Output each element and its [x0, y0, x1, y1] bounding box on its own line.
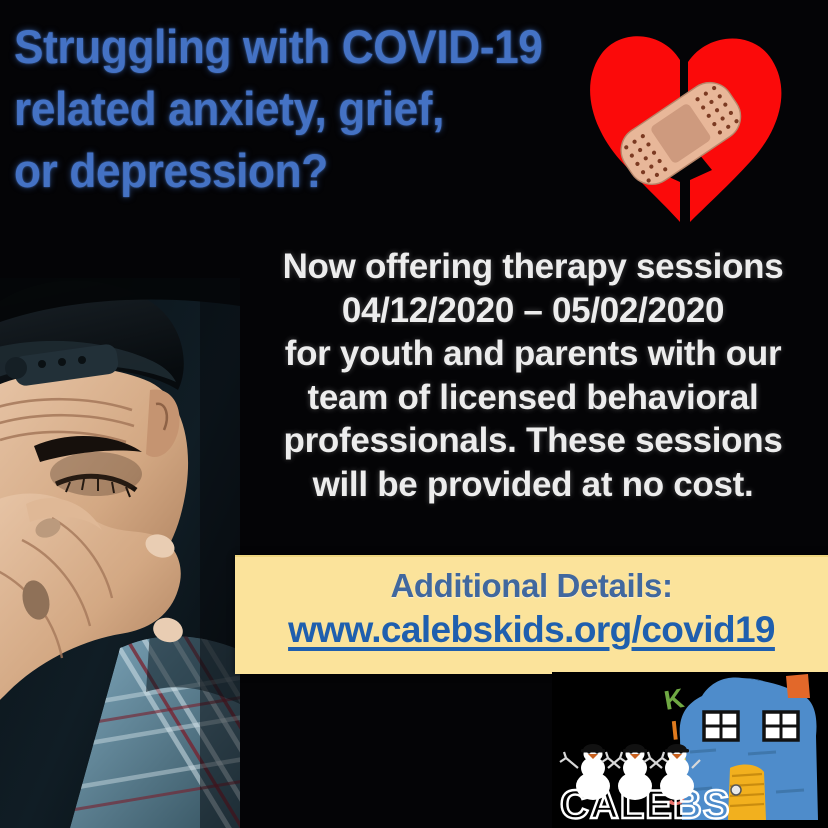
additional-details-label: Additional Details:: [235, 567, 828, 605]
body-line-6: will be provided at no cost.: [238, 463, 828, 507]
page-title: Struggling with COVID-19 related anxiety…: [14, 16, 614, 202]
headline-line-1: Struggling with COVID-19: [14, 16, 578, 78]
body-copy: Now offering therapy sessions 04/12/2020…: [238, 245, 828, 506]
additional-details-panel: Additional Details: www.calebskids.org/c…: [235, 555, 828, 674]
body-line-3: for youth and parents with our: [238, 332, 828, 376]
headline-line-2: related anxiety, grief,: [14, 78, 578, 140]
flyer-canvas: Struggling with COVID-19 related anxiety…: [0, 0, 828, 828]
website-link[interactable]: www.calebskids.org/covid19: [235, 609, 828, 651]
calebs-kids-logo: K I D S: [552, 672, 828, 828]
headline-line-3: or depression?: [14, 140, 578, 202]
body-line-2: 04/12/2020 – 05/02/2020: [238, 289, 828, 333]
body-line-4: team of licensed behavioral: [238, 376, 828, 420]
distressed-man-photo: [0, 278, 240, 828]
logo-wordmark: CALEBS: [560, 783, 730, 827]
body-line-1: Now offering therapy sessions: [238, 245, 828, 289]
body-line-5: professionals. These sessions: [238, 419, 828, 463]
